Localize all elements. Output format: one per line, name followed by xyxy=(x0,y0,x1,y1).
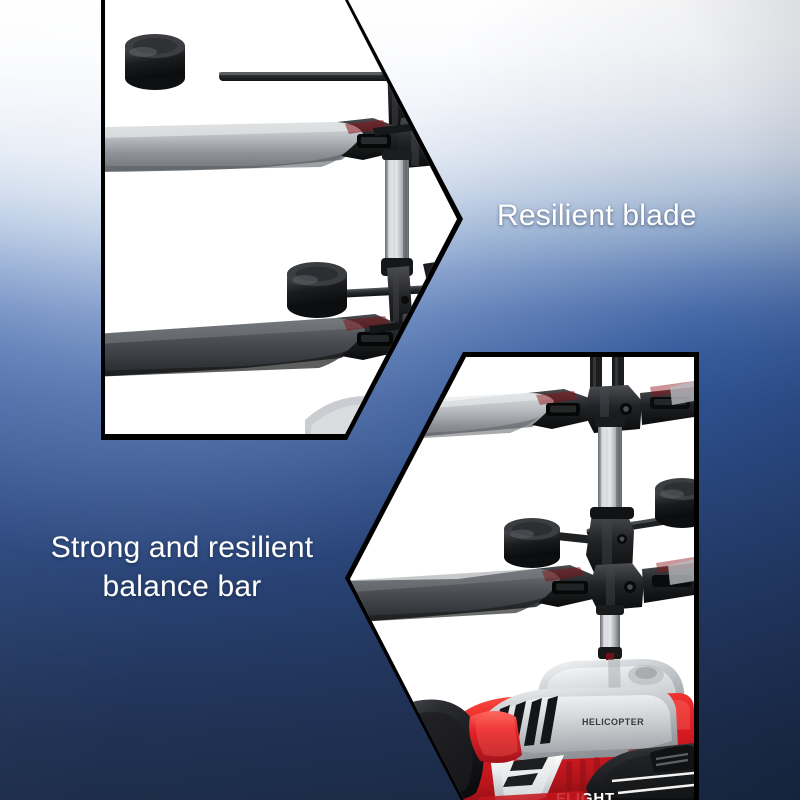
image-canvas: HELICOPTER xyxy=(0,0,800,800)
helicopter-badge-text: HELICOPTER xyxy=(582,717,644,727)
callout-resilient-blade: Resilient blade xyxy=(497,196,697,235)
callout-balance-bar: Strong and resilient balance bar xyxy=(26,528,338,606)
